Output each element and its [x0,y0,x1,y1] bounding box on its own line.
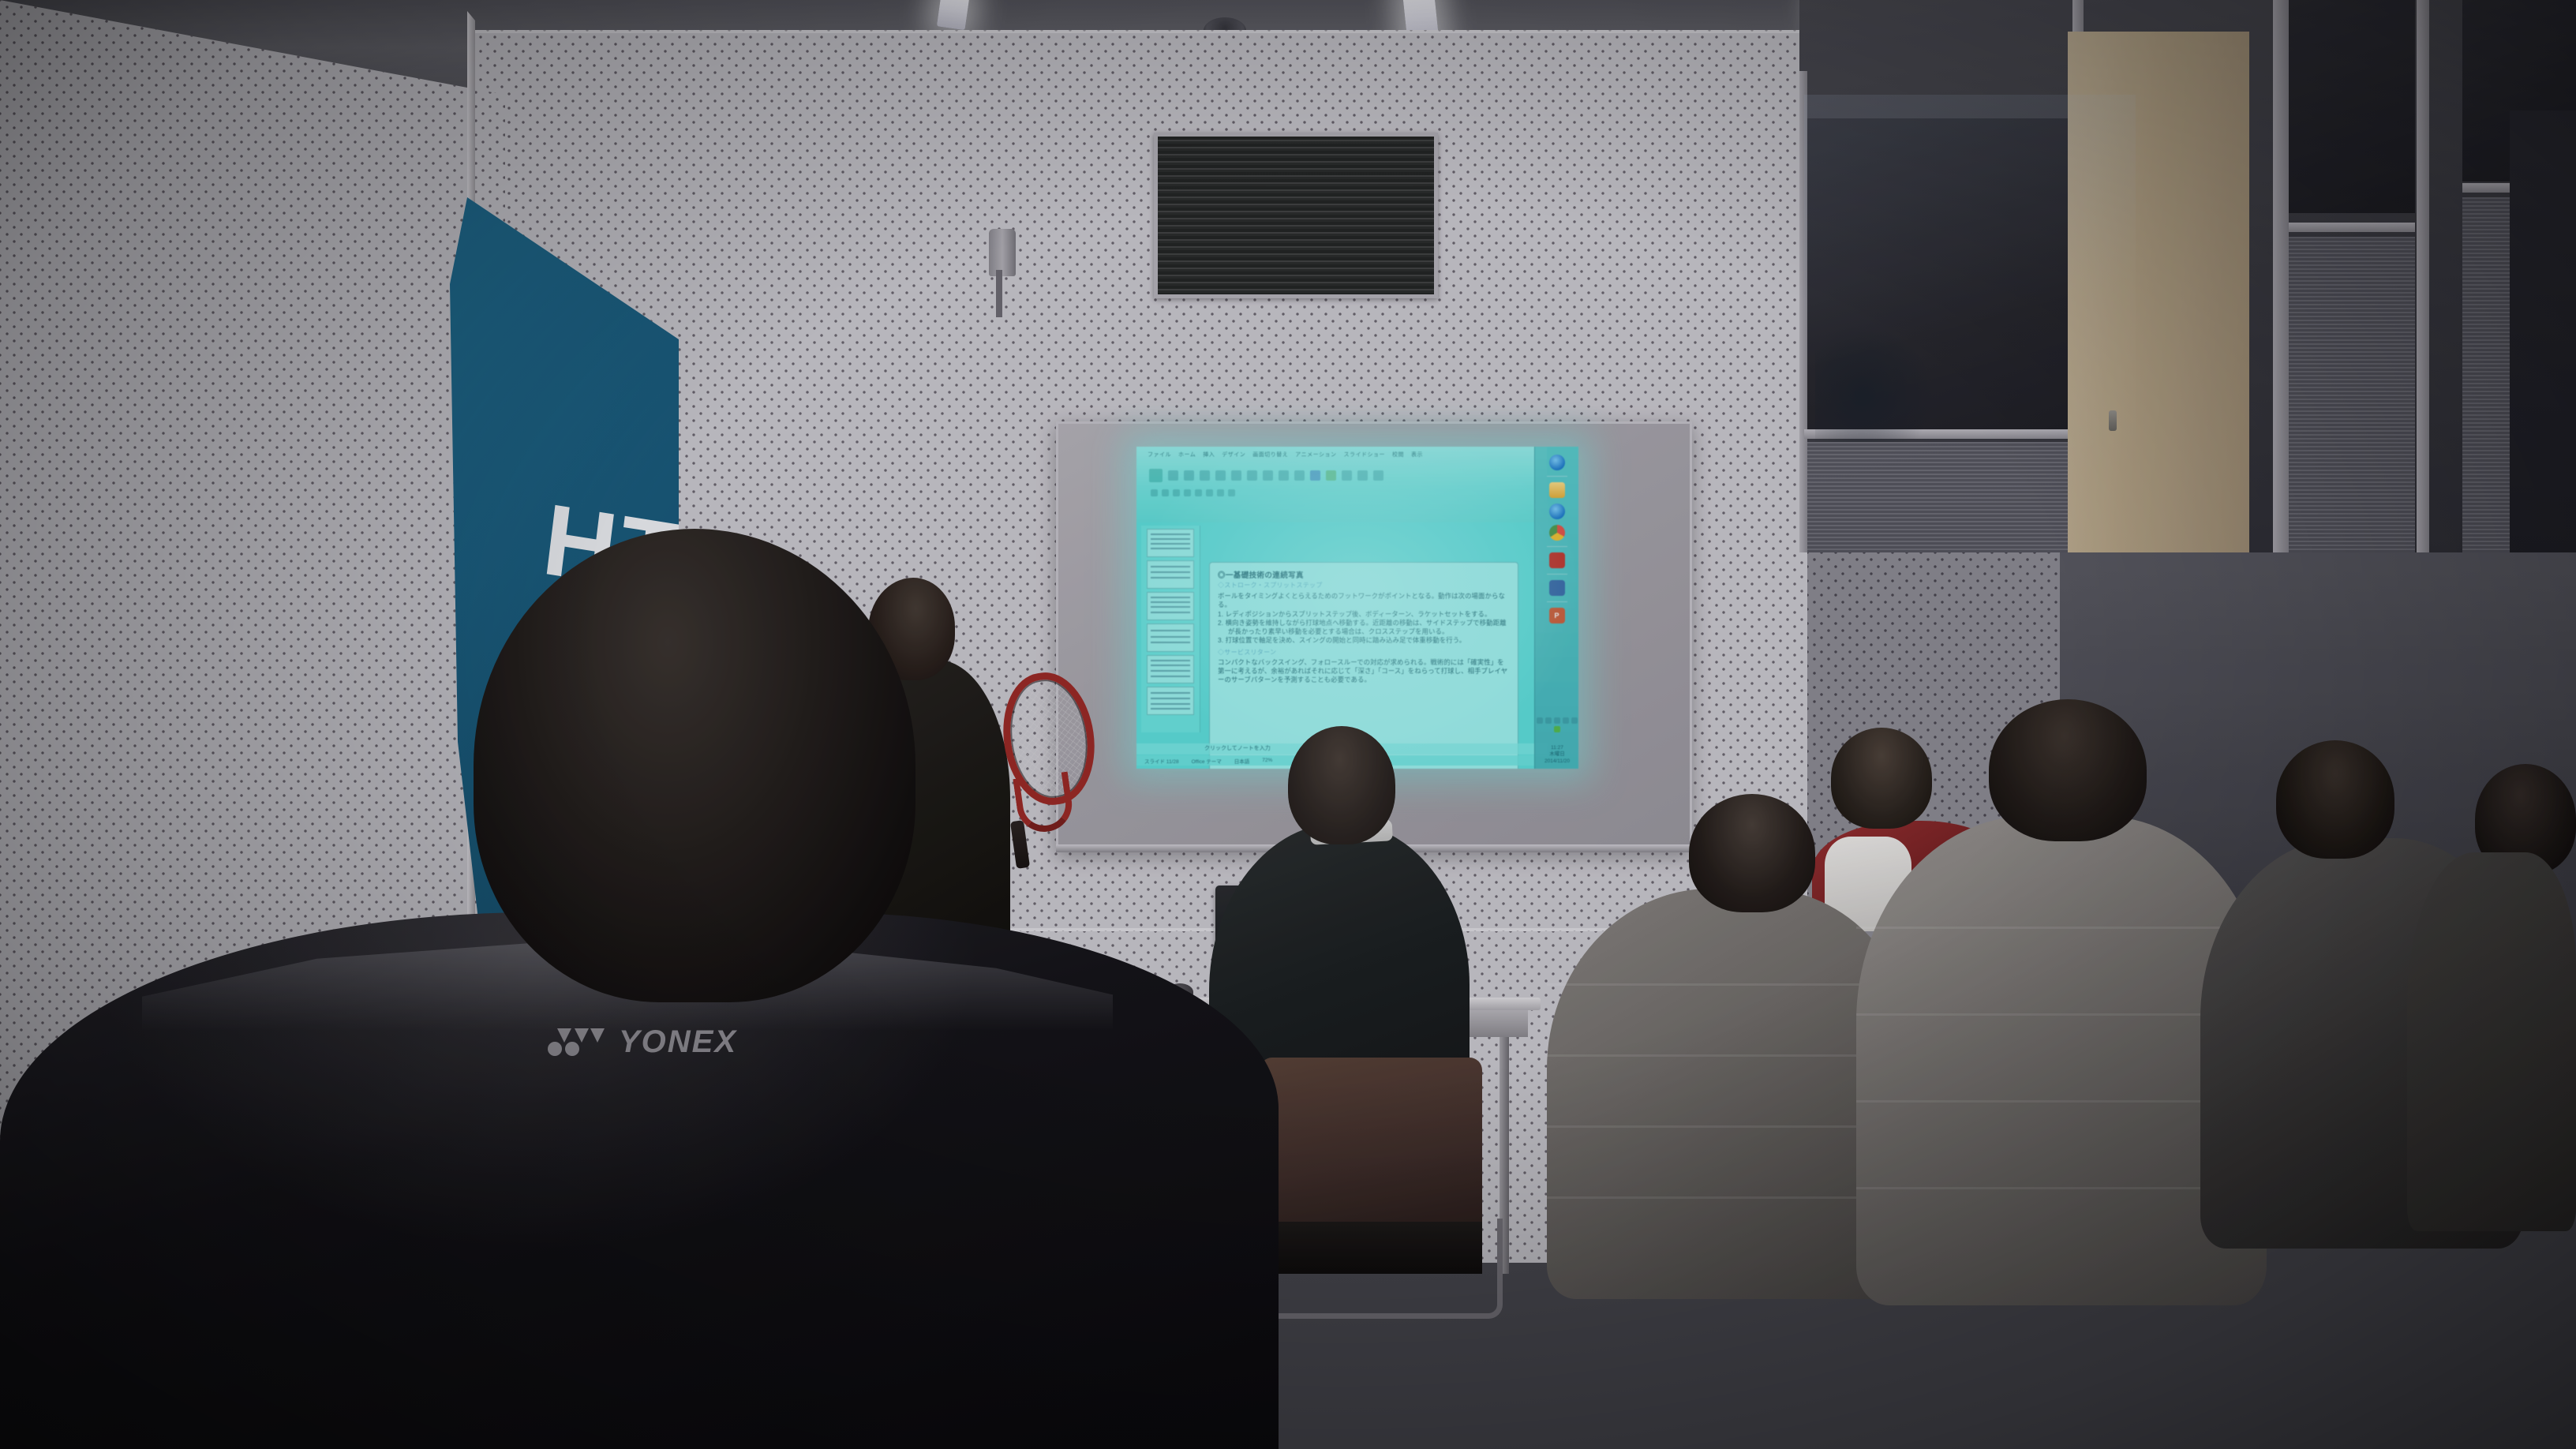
audience-head [1831,728,1932,829]
zoom-level: 72% [1262,758,1272,763]
ribbon-button-small[interactable] [1151,489,1158,496]
tray-icon-network[interactable] [1554,726,1560,732]
chair-frame [1250,1219,1503,1319]
start-icon[interactable] [1549,455,1565,470]
ribbon-button-small[interactable] [1217,489,1224,496]
ribbon-tab[interactable]: 表示 [1411,451,1423,459]
ribbon-button-small[interactable] [1206,489,1213,496]
ribbon-tab[interactable]: 挿入 [1203,451,1215,459]
windows-taskbar[interactable]: P 11:27 木曜日 2014/11/20 [1534,447,1578,769]
ribbon-button-newslide[interactable] [1200,470,1210,481]
ribbon-button-arrange[interactable] [1326,470,1336,481]
wall-seam [474,30,1831,33]
clock-date: 2014/11/20 [1535,758,1578,766]
ribbon-button-find[interactable] [1357,470,1368,481]
ribbon-tab[interactable]: デザイン [1222,451,1245,459]
chrome-icon[interactable] [1549,525,1565,541]
ribbon-button-font[interactable] [1231,470,1241,481]
yonex-logo: YONEX [545,1020,805,1064]
ribbon-toolbar[interactable]: ファイル ホーム 挿入 デザイン 画面切り替え アニメーション スライドショー … [1136,447,1547,522]
ribbon-tab[interactable]: スライドショー [1344,451,1386,459]
slide-thumbnail[interactable] [1147,592,1194,620]
audience-head [2276,740,2394,859]
slide-thumbnail[interactable] [1147,687,1194,715]
ribbon-button-quickstyles[interactable] [1342,470,1352,481]
ribbon-tab[interactable]: アニメーション [1295,451,1336,459]
internet-explorer-icon[interactable] [1549,504,1565,519]
taskbar-divider [1547,574,1567,575]
slide-title: ◎一基礎技術の連続写真 [1218,569,1510,580]
ribbon-button-small[interactable] [1195,489,1202,496]
taskbar-divider [1547,601,1567,602]
glass-reflection [1804,95,2136,505]
taskbar-divider [1547,476,1567,477]
slide-list-item: 3. 打球位置で軸足を決め、スイングの開始と同時に踏み込み足で体重移動を行う。 [1218,636,1510,645]
slide-closing-paragraph: コンパクトなバックスイング、フォロースルーでの対応が求められる。戦術的には「確実… [1218,658,1510,684]
projected-desktop: ファイル ホーム 挿入 デザイン 画面切り替え アニメーション スライドショー … [1136,447,1578,769]
ribbon-button-italic[interactable] [1263,470,1273,481]
reflected-tree [1815,324,1934,442]
ribbon-button-bold[interactable] [1247,470,1257,481]
ribbon-button-paste[interactable] [1149,469,1163,482]
window-transom [2289,223,2415,232]
foreground-attendee-head [474,529,915,1002]
ribbon-button-layout[interactable] [1215,470,1226,481]
tray-icon[interactable] [1563,717,1569,724]
ribbon-button-copy[interactable] [1184,470,1194,481]
ribbon-button-shapes[interactable] [1310,470,1320,481]
ribbon-button-bullets[interactable] [1279,470,1289,481]
speaker-mount [996,270,1002,317]
language-indicator: 日本語 [1234,757,1250,765]
ribbon-button-replace[interactable] [1373,470,1383,481]
slide-subheading-1: ◇ストローク・スプリットステップ [1218,581,1510,590]
audience-far-right-body [2407,852,2576,1231]
ribbon-button-align[interactable] [1294,470,1305,481]
window-mullion [2417,0,2429,552]
ribbon-button-cut[interactable] [1168,470,1178,481]
folder-icon[interactable] [1549,482,1565,498]
slide-subheading-2: ◇サービスリターン [1218,648,1510,657]
tray-icon[interactable] [1571,717,1578,724]
yonex-wordmark: YONEX [619,1026,737,1058]
tray-icon[interactable] [1537,717,1543,724]
glass-pane [2289,0,2415,213]
ribbon-button-small[interactable] [1184,489,1191,496]
system-tray[interactable] [1535,717,1578,732]
venetian-blind [2289,237,2415,552]
media-player-icon[interactable] [1549,580,1565,596]
slide-thumbnail[interactable] [1147,623,1194,652]
audience-head [1689,794,1815,912]
clock-day: 木曜日 [1535,751,1578,758]
ribbon-button-small[interactable] [1162,489,1169,496]
ribbon-button-small[interactable] [1173,489,1180,496]
ribbon-tab[interactable]: ホーム [1178,451,1196,459]
slide-list-item: 1. レディポジションからスプリットステップ後、ボディーターン、ラケットセットを… [1218,610,1510,619]
slide-thumbnail[interactable] [1147,529,1194,557]
ribbon-tab[interactable]: 画面切り替え [1252,451,1288,459]
taskbar-clock[interactable]: 11:27 木曜日 2014/11/20 [1535,745,1578,766]
tray-icon[interactable] [1554,717,1560,724]
yonex-mark-icon [545,1025,609,1058]
audience-head [1989,699,2147,841]
fluorescent-tube-light [937,0,970,30]
slide-lead-paragraph: ボールをタイミングよくとらえるためのフットワークがポイントとなる。動作は次の場面… [1218,592,1510,609]
slide-list-item: 2. 横向き姿勢を維持しながら打球地点へ移動する。近距離の移動は、サイドステップ… [1218,619,1510,636]
chair-backrest [1260,1058,1482,1231]
wall-speaker [989,229,1016,276]
photo-scene: HTA ファイル ホーム 挿入 デザイン 画面切り替え アニメーション スライド… [0,0,2576,1449]
slide-thumbnail[interactable] [1147,655,1194,683]
theme-name: Office テーマ [1192,757,1222,765]
window-mullion [2273,0,2289,552]
tray-icon[interactable] [1545,717,1552,724]
slide-thumbnail-pane[interactable] [1141,526,1200,732]
slide-indicator: スライド 11/28 [1144,757,1179,765]
ribbon-tab[interactable]: ファイル [1148,451,1171,459]
pdf-icon[interactable] [1549,552,1565,568]
ribbon-button-small[interactable] [1228,489,1235,496]
presenter-head [1288,726,1395,844]
slide-thumbnail[interactable] [1147,560,1194,589]
ribbon-tab[interactable]: 校閲 [1392,451,1404,459]
powerpoint-icon[interactable]: P [1549,608,1565,623]
air-vent-grille [1154,133,1438,298]
taskbar-divider [1547,546,1567,547]
